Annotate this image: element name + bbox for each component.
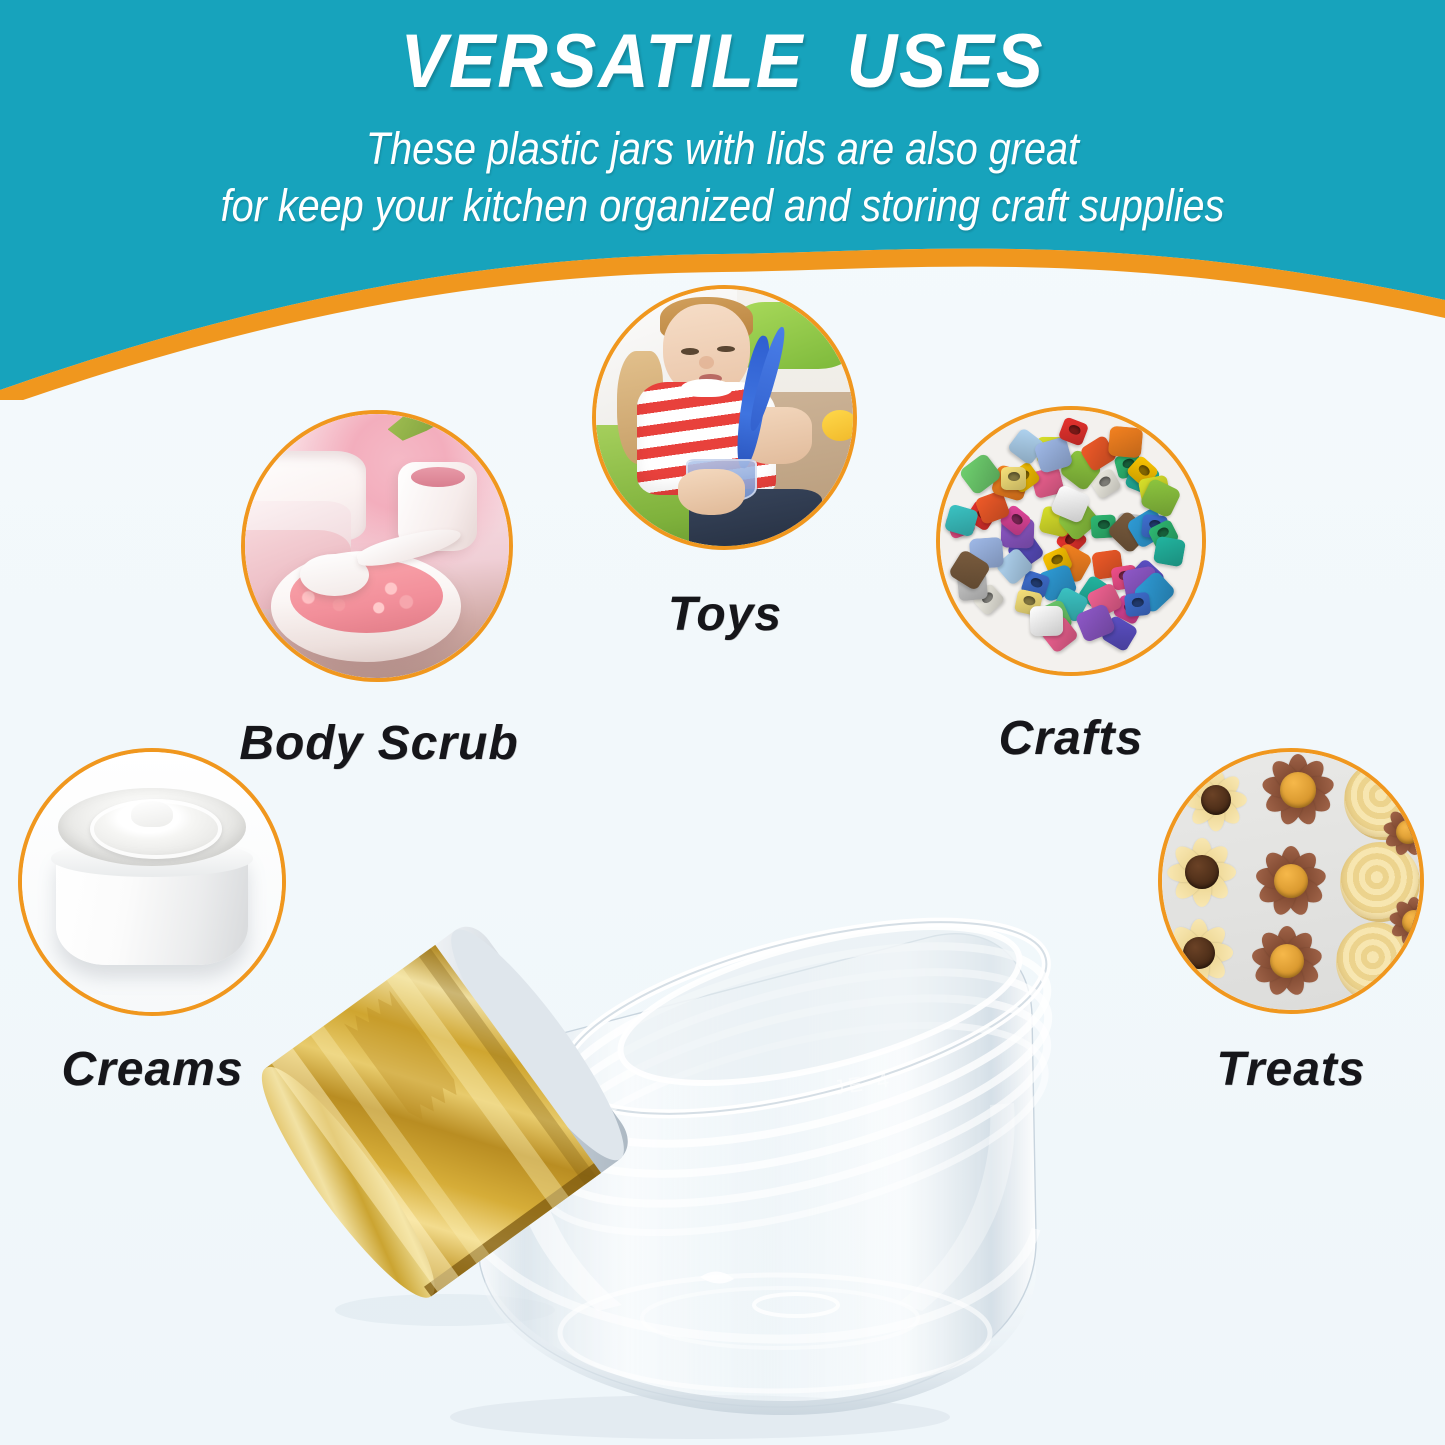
feature-image-treats — [1158, 748, 1424, 1014]
treat-cookie — [1178, 762, 1254, 838]
cookie-center — [1270, 944, 1304, 978]
cookie-center — [1185, 855, 1219, 889]
craft-bead — [1001, 467, 1026, 490]
cookie-center — [1396, 820, 1420, 844]
craft-bead — [1107, 425, 1143, 458]
treat-cookie — [1162, 830, 1244, 914]
cookie-center — [1402, 910, 1420, 934]
product-image-jar-with-lid: JE-4 — [230, 805, 1090, 1445]
infographic-canvas: VERSATILE USES These plastic jars with l… — [0, 0, 1445, 1445]
header-text-block: VERSATILE USES These plastic jars with l… — [0, 0, 1445, 234]
feature-label-treats: Treats — [1160, 1043, 1422, 1097]
cookie-center — [1274, 864, 1308, 898]
treat-cookie — [1248, 838, 1334, 924]
feature-image-body-scrub — [241, 410, 513, 682]
feature-image-crafts — [936, 406, 1206, 676]
page-subtitle: These plastic jars with lids are also gr… — [87, 102, 1359, 234]
feature-label-creams: Creams — [20, 1043, 285, 1097]
feature-label-toys: Toys — [595, 588, 855, 642]
subtitle-line-2: for keep your kitchen organized and stor… — [87, 177, 1359, 234]
treat-cookie — [1244, 918, 1330, 1004]
feature-image-creams — [18, 748, 286, 1016]
feature-image-toys — [592, 285, 857, 550]
cookie-center — [1280, 772, 1315, 807]
feature-label-crafts: Crafts — [941, 712, 1201, 766]
feature-label-body-scrub: Body Scrub — [234, 717, 524, 771]
subtitle-line-1: These plastic jars with lids are also gr… — [87, 120, 1359, 177]
craft-bead — [1153, 536, 1186, 567]
craft-bead — [1030, 605, 1064, 636]
page-title: VERSATILE USES — [58, 0, 1387, 102]
craft-bead — [1123, 592, 1150, 617]
